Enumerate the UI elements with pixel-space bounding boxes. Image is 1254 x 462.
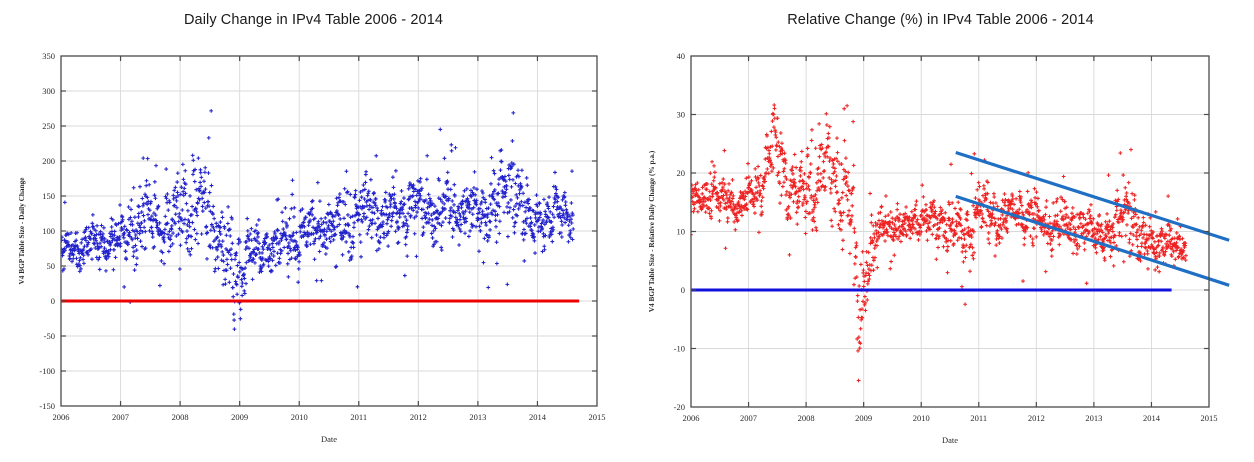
x-tick-label: 2013: [1085, 413, 1102, 423]
y-tick-label: -50: [44, 331, 55, 341]
x-tick-label: 2006: [53, 412, 70, 422]
x-tick-label: 2009: [855, 413, 872, 423]
x-tick-label: 2013: [469, 412, 486, 422]
x-tick-label: 2015: [1201, 413, 1218, 423]
y-tick-label: 10: [677, 227, 686, 237]
y-tick-label: 40: [677, 51, 686, 61]
x-tick-label: 2010: [291, 412, 308, 422]
x-tick-label: 2014: [1143, 413, 1161, 423]
y-tick-label: 30: [677, 110, 686, 120]
x-tick-label: 2015: [589, 412, 606, 422]
y-axis-title: V4 BGP Table Size - Relative Daily Chang…: [647, 150, 656, 312]
y-tick-label: 0: [681, 285, 685, 295]
y-tick-label: 150: [42, 191, 55, 201]
y-tick-label: -20: [674, 402, 685, 412]
x-tick-label: 2007: [740, 413, 757, 423]
y-tick-label: 0: [51, 296, 55, 306]
plot-svg: -150-100-5005010015020025030035020062007…: [0, 0, 627, 462]
daily-change-plot: -150-100-5005010015020025030035020062007…: [0, 0, 627, 462]
x-tick-label: 2008: [798, 413, 815, 423]
x-axis-title: Date: [942, 435, 958, 445]
y-tick-label: 300: [42, 86, 55, 96]
y-tick-label: 250: [42, 121, 55, 131]
x-axis-title: Date: [321, 434, 337, 444]
x-tick-label: 2011: [970, 413, 987, 423]
x-tick-label: 2006: [683, 413, 700, 423]
x-tick-label: 2012: [1028, 413, 1045, 423]
y-tick-label: -100: [39, 366, 55, 376]
x-tick-label: 2010: [913, 413, 930, 423]
x-tick-label: 2011: [350, 412, 367, 422]
y-tick-label: 50: [47, 261, 56, 271]
y-tick-label: -10: [674, 344, 685, 354]
x-tick-label: 2008: [172, 412, 189, 422]
relative-change-plot: -20-100102030402006200720082009201020112…: [627, 0, 1254, 462]
y-tick-label: 350: [42, 51, 55, 61]
right-chart-panel: Relative Change (%) in IPv4 Table 2006 -…: [627, 0, 1254, 462]
x-tick-label: 2012: [410, 412, 427, 422]
x-tick-label: 2014: [529, 412, 547, 422]
left-chart-panel: Daily Change in IPv4 Table 2006 - 2014 -…: [0, 0, 627, 462]
y-tick-label: -150: [39, 401, 55, 411]
y-tick-label: 200: [42, 156, 55, 166]
chart-panels: Daily Change in IPv4 Table 2006 - 2014 -…: [0, 0, 1254, 462]
y-axis-title: V4 BGP Table Size - Daily Change: [17, 177, 26, 285]
x-tick-label: 2009: [231, 412, 248, 422]
y-tick-label: 20: [677, 168, 686, 178]
x-tick-label: 2007: [112, 412, 129, 422]
y-tick-label: 100: [42, 226, 55, 236]
plot-svg: -20-100102030402006200720082009201020112…: [627, 0, 1254, 462]
